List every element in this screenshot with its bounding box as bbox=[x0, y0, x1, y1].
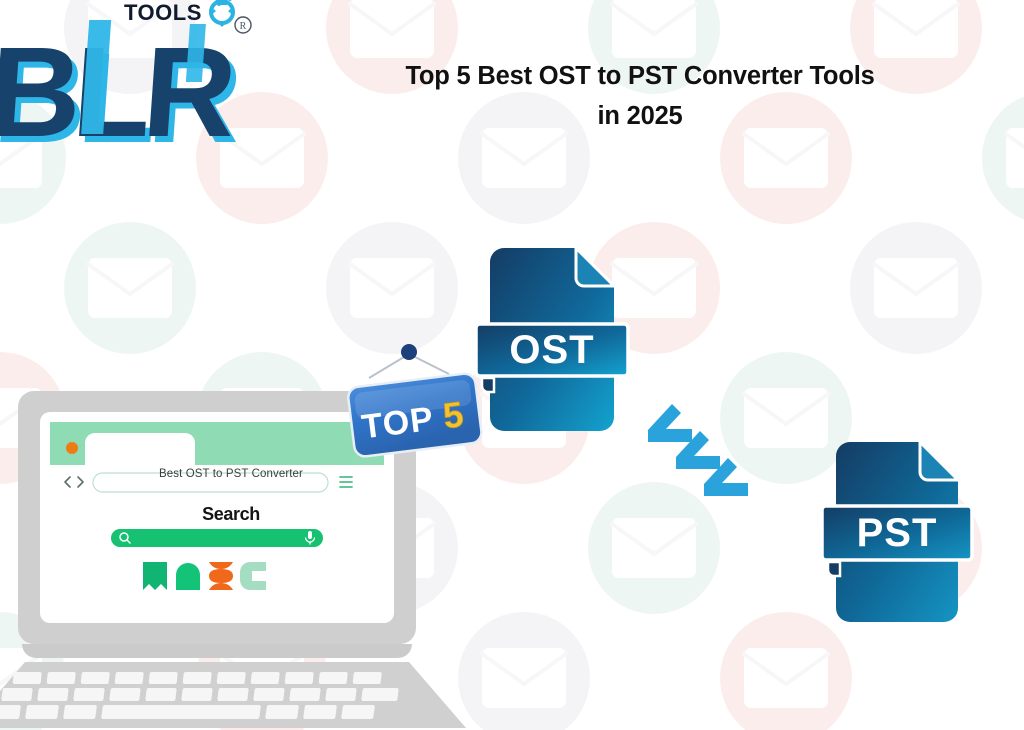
tab-dot-icon bbox=[66, 442, 78, 454]
pst-file-icon: PST bbox=[818, 440, 976, 622]
top5-badge: TOP 5 bbox=[337, 340, 493, 460]
shape-hourglass-icon bbox=[209, 562, 233, 590]
chevron-arrows-icon bbox=[640, 392, 760, 502]
chevron-arrow-1 bbox=[648, 404, 692, 442]
ost-file-label: OST bbox=[509, 328, 594, 372]
page-title-line2: in 2025 bbox=[352, 96, 928, 136]
browser-url-bar[interactable] bbox=[93, 473, 328, 492]
brand-logo[interactable]: TOOLS R BLR BLR bbox=[0, 0, 268, 162]
shape-bowtie-icon bbox=[143, 562, 167, 590]
page-title-line1: Top 5 Best OST to PST Converter Tools bbox=[352, 56, 928, 96]
shape-arch-icon bbox=[176, 563, 200, 590]
pst-file-label: PST bbox=[857, 511, 938, 555]
ost-file-icon: OST bbox=[472, 246, 632, 431]
badge-knob-icon bbox=[401, 344, 417, 360]
pst-file-nub bbox=[828, 562, 840, 576]
search-input[interactable] bbox=[111, 529, 323, 547]
page-title: Top 5 Best OST to PST Converter Tools in… bbox=[352, 56, 928, 136]
browser-active-tab bbox=[85, 433, 195, 465]
logo-main-label: BLR BLR bbox=[0, 21, 244, 162]
svg-text:R: R bbox=[240, 21, 247, 32]
laptop-hinge bbox=[22, 644, 412, 658]
